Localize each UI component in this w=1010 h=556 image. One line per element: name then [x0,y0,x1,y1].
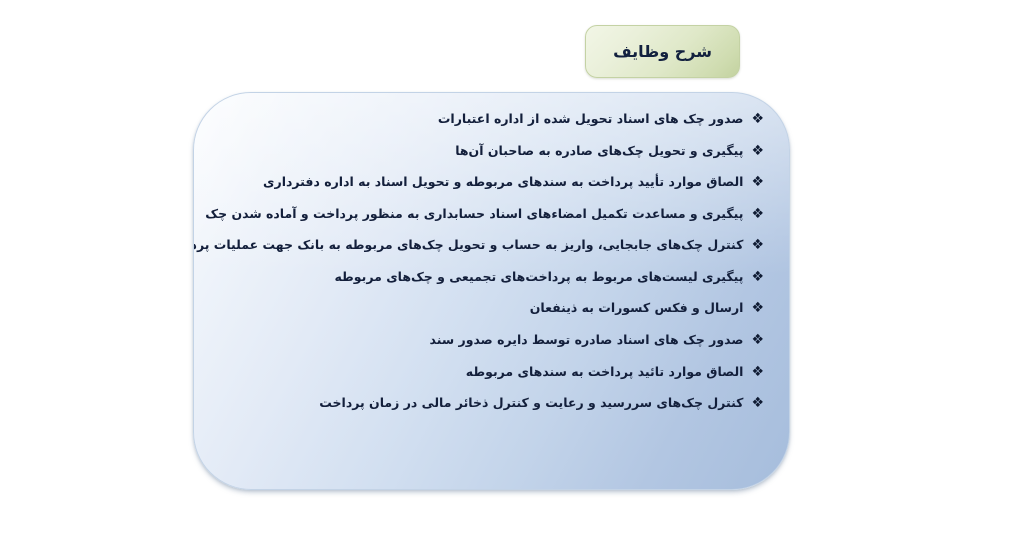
list-item-label: پیگیری لیست‌های مربوط به پرداخت‌های تجمی… [334,269,743,285]
list-item-label: الصاق موارد تائید پرداخت به سندهای مربوط… [466,364,744,380]
list-item: ❖ پیگیری و تحویل چک‌های صادره به صاحبان … [219,143,764,159]
list-item: ❖ کنترل چک‌های جابجایی، واریز به حساب و … [219,237,764,253]
diamond-bullet-icon: ❖ [751,270,764,285]
list-item: ❖ پیگیری لیست‌های مربوط به پرداخت‌های تج… [219,269,764,285]
diamond-bullet-icon: ❖ [751,207,764,222]
slide-title-pill: شرح وظایف [585,25,740,78]
diamond-bullet-icon: ❖ [751,365,764,380]
page-title: شرح وظایف [613,44,712,60]
list-item: ❖ پیگیری و مساعدت تکمیل امضاءهای اسناد ح… [219,206,764,222]
list-item-label: صدور چک های اسناد صادره توسط دایره صدور … [430,332,744,348]
diamond-bullet-icon: ❖ [751,144,764,159]
duties-panel: ❖ صدور چک های اسناد تحویل شده از اداره ا… [193,92,790,490]
list-item-label: ارسال و فکس کسورات به ذینفعان [530,300,744,316]
diamond-bullet-icon: ❖ [751,238,764,253]
list-item-label: کنترل چک‌های جابجایی، واریز به حساب و تح… [193,237,743,253]
diamond-bullet-icon: ❖ [751,396,764,411]
list-item: ❖ کنترل چک‌های سررسید و رعایت و کنترل ذخ… [219,395,764,411]
list-item-label: پیگیری و مساعدت تکمیل امضاءهای اسناد حسا… [205,206,743,222]
list-item-label: الصاق موارد تأیید پرداخت به سندهای مربوط… [263,174,743,190]
list-item: ❖ الصاق موارد تأیید پرداخت به سندهای مرب… [219,174,764,190]
diamond-bullet-icon: ❖ [751,333,764,348]
list-item: ❖ صدور چک های اسناد صادره توسط دایره صدو… [219,332,764,348]
list-item-label: کنترل چک‌های سررسید و رعایت و کنترل ذخائ… [319,395,743,411]
duties-panel-wrapper: ❖ صدور چک های اسناد تحویل شده از اداره ا… [193,92,790,490]
duties-list: ❖ صدور چک های اسناد تحویل شده از اداره ا… [194,111,789,427]
list-item: ❖ صدور چک های اسناد تحویل شده از اداره ا… [219,111,764,127]
diamond-bullet-icon: ❖ [751,112,764,127]
diamond-bullet-icon: ❖ [751,175,764,190]
list-item: ❖ ارسال و فکس کسورات به ذینفعان [219,300,764,316]
list-item-label: پیگیری و تحویل چک‌های صادره به صاحبان آن… [455,143,743,159]
list-item: ❖ الصاق موارد تائید پرداخت به سندهای مرب… [219,364,764,380]
list-item-label: صدور چک های اسناد تحویل شده از اداره اعت… [438,111,744,127]
diamond-bullet-icon: ❖ [751,301,764,316]
slide-canvas: شرح وظایف ❖ صدور چک های اسناد تحویل شده … [0,0,1010,556]
